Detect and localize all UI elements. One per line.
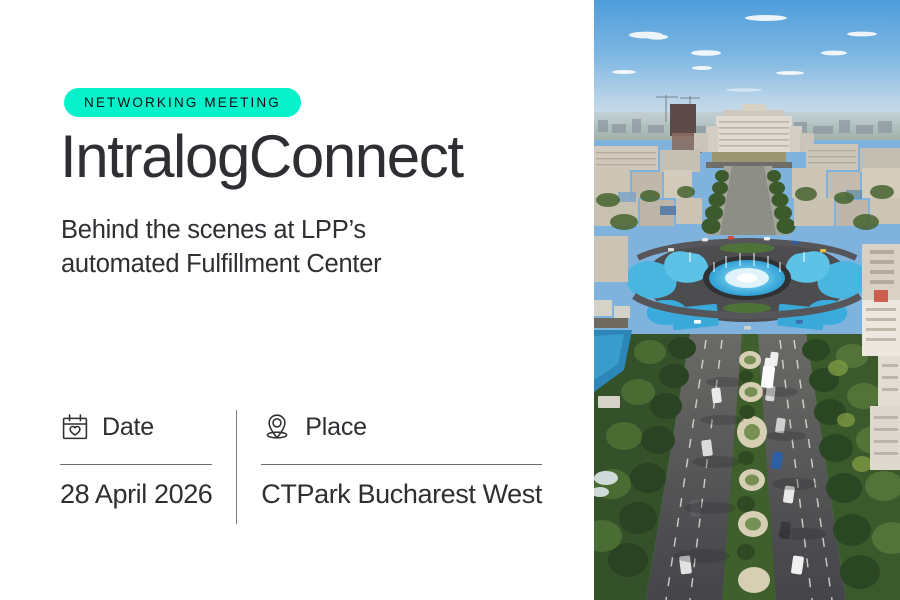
meta-date-header: Date bbox=[60, 406, 212, 448]
calendar-heart-icon bbox=[60, 412, 90, 442]
event-meta: Date 28 April 2026 Place bbox=[60, 406, 542, 524]
meta-place-block: Place CTPark Bucharest West bbox=[261, 406, 542, 524]
event-poster: NETWORKING MEETING IntralogConnect Behin… bbox=[0, 0, 900, 600]
subtitle: Behind the scenes at LPP’s automated Ful… bbox=[61, 214, 381, 281]
map-pin-icon bbox=[261, 411, 293, 443]
subtitle-line-2: automated Fulfillment Center bbox=[61, 248, 381, 282]
dark-tower bbox=[670, 104, 696, 136]
category-badge: NETWORKING MEETING bbox=[64, 88, 301, 117]
aerial-photo-illustration bbox=[594, 0, 900, 600]
meta-date-rule bbox=[60, 464, 212, 465]
meta-date-label: Date bbox=[102, 415, 154, 440]
page-title: IntralogConnect bbox=[60, 125, 463, 188]
meta-vertical-divider bbox=[236, 410, 237, 524]
meta-place-label: Place bbox=[305, 415, 367, 440]
meta-date-block: Date 28 April 2026 bbox=[60, 406, 212, 524]
subtitle-line-1: Behind the scenes at LPP’s bbox=[61, 214, 381, 248]
content-panel: NETWORKING MEETING IntralogConnect Behin… bbox=[0, 0, 594, 600]
meta-place-value: CTPark Bucharest West bbox=[261, 479, 542, 510]
aerial-photo bbox=[594, 0, 900, 600]
meta-date-value: 28 April 2026 bbox=[60, 479, 212, 510]
unirii-fountains bbox=[626, 238, 867, 330]
meta-place-rule bbox=[261, 464, 542, 465]
meta-place-header: Place bbox=[261, 406, 542, 448]
